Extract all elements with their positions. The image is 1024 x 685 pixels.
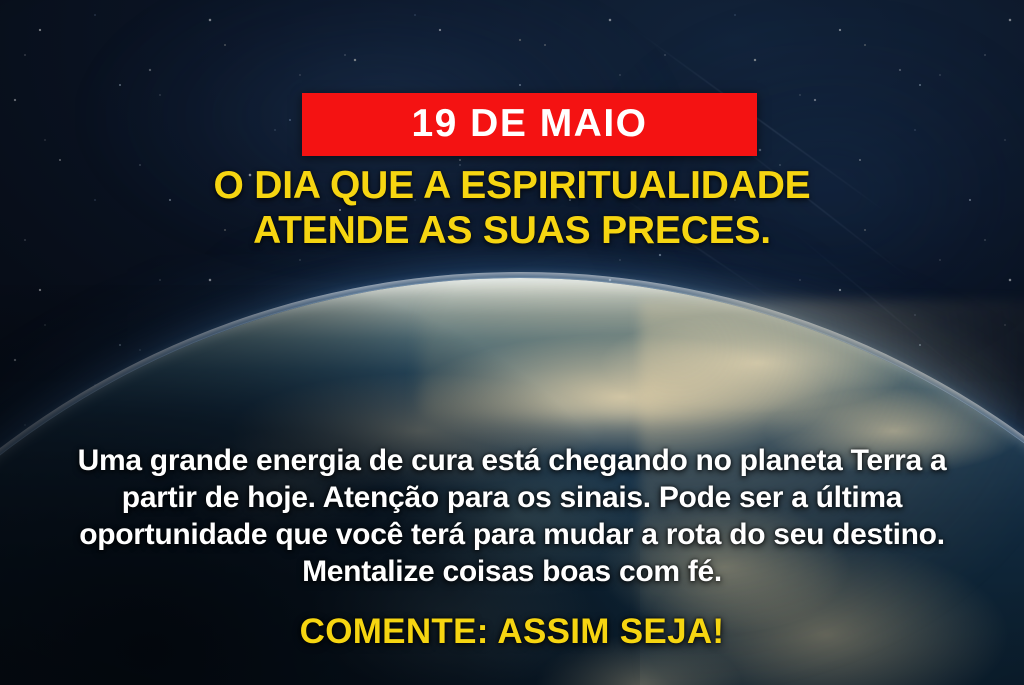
poster-canvas: 19 DE MAIO O DIA QUE A ESPIRITUALIDADE A… (0, 0, 1024, 685)
date-banner: 19 DE MAIO (302, 93, 757, 156)
poster-content: 19 DE MAIO O DIA QUE A ESPIRITUALIDADE A… (0, 0, 1024, 685)
headline: O DIA QUE A ESPIRITUALIDADE ATENDE AS SU… (0, 164, 1024, 254)
date-banner-label: 19 DE MAIO (411, 104, 647, 143)
body-copy: Uma grande energia de cura está chegando… (50, 443, 974, 591)
call-to-action-label: COMENTE: ASSIM SEJA! (0, 612, 1024, 652)
headline-line-2: ATENDE AS SUAS PRECES. (36, 209, 988, 254)
headline-line-1: O DIA QUE A ESPIRITUALIDADE (214, 164, 811, 207)
